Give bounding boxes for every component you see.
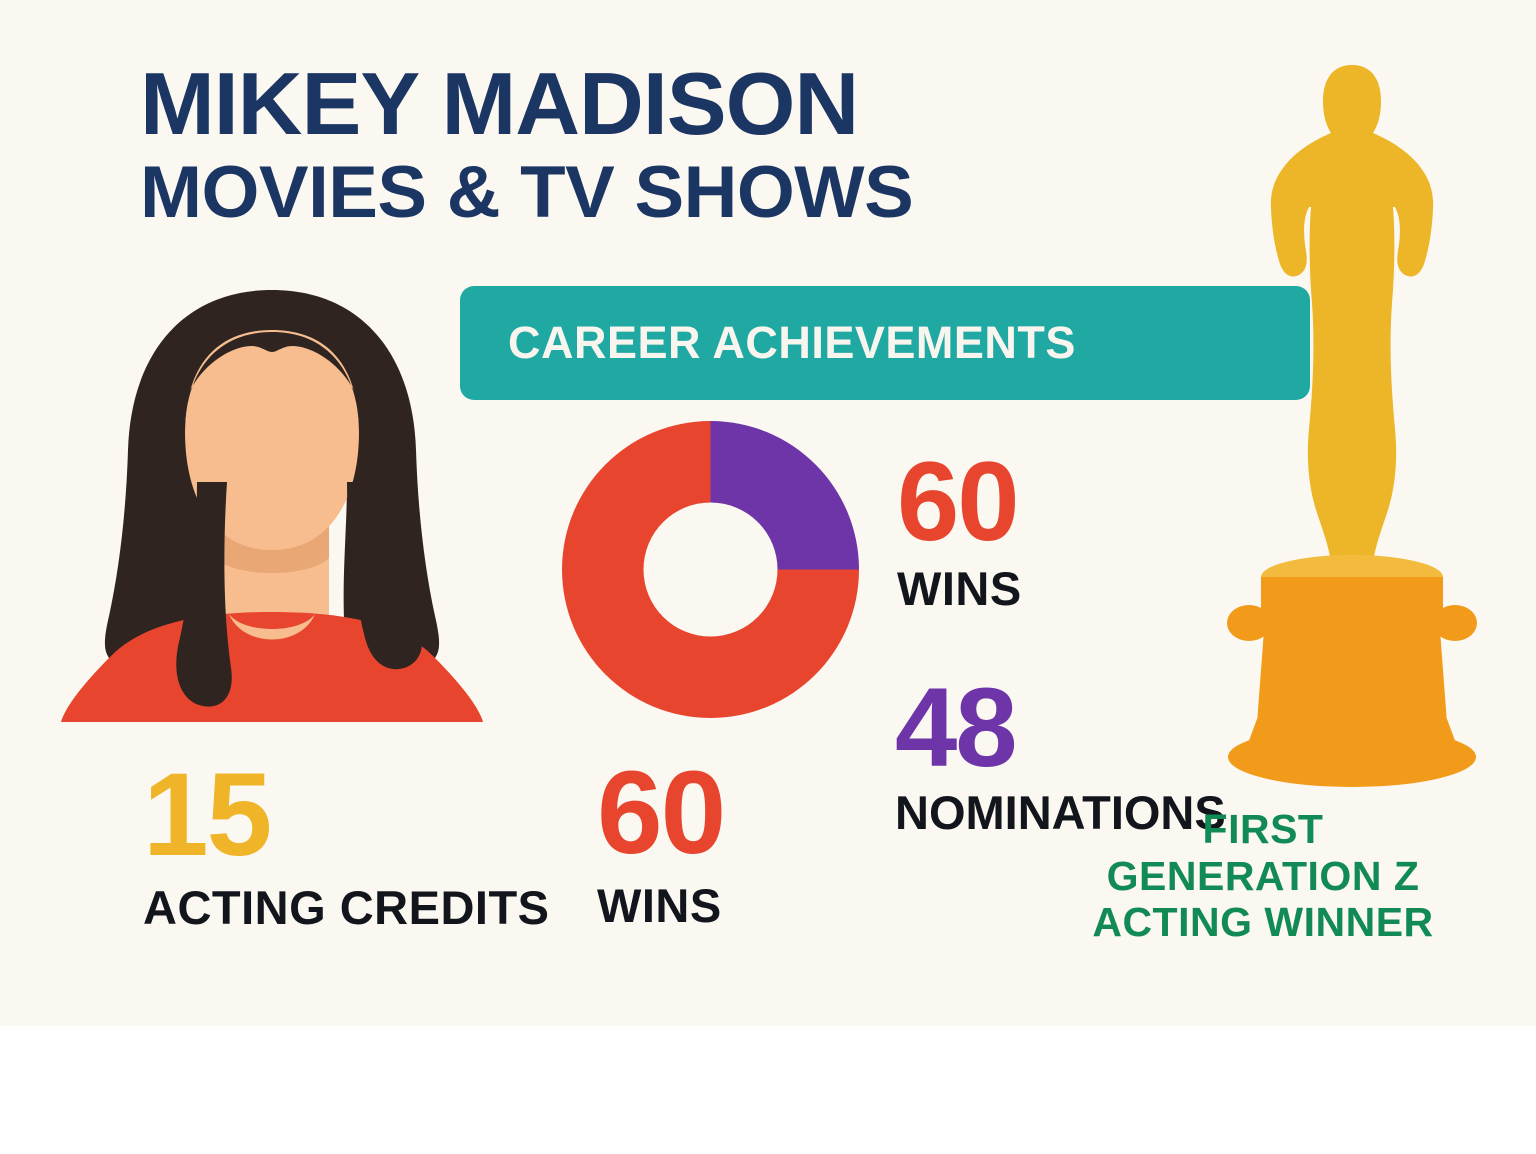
stat-wins-bottom-label: WINS [597,882,724,929]
infographic-root: MIKEY MADISON MOVIES & TV SHOWS CAREER A… [0,0,1536,1154]
stat-acting-credits: 15 ACTING CREDITS [143,762,550,931]
stat-acting-credits-label: ACTING CREDITS [143,884,550,931]
oscar-statue-icon [1213,57,1491,797]
pedestal-column [1257,617,1447,723]
first-gen-z-badge: FIRST GENERATION Z ACTING WINNER [1063,806,1463,946]
stat-wins-right-label: WINS [897,565,1022,612]
woman-avatar-icon [47,282,497,727]
title-line-2: MOVIES & TV SHOWS [140,156,1170,229]
stat-wins-right: 60 WINS [897,452,1022,612]
career-achievements-banner: CAREER ACHIEVEMENTS [460,286,1310,400]
badge-line-3: ACTING WINNER [1063,899,1463,946]
donut-chart-icon [562,421,859,718]
badge-line-1: FIRST [1063,806,1463,853]
statue-figure [1271,65,1433,563]
donut-hole [644,503,778,637]
stat-wins-bottom: 60 WINS [597,760,724,929]
badge-line-2: GENERATION Z [1063,853,1463,900]
stat-wins-right-value: 60 [897,452,1022,553]
stat-acting-credits-value: 15 [143,762,550,868]
stat-wins-bottom-value: 60 [597,760,724,866]
banner-label: CAREER ACHIEVEMENTS [508,317,1076,369]
pedestal-base [1228,727,1476,787]
stat-nominations-value: 48 [895,678,1226,779]
title-line-1: MIKEY MADISON [140,62,1170,146]
page-title: MIKEY MADISON MOVIES & TV SHOWS [140,62,1150,229]
